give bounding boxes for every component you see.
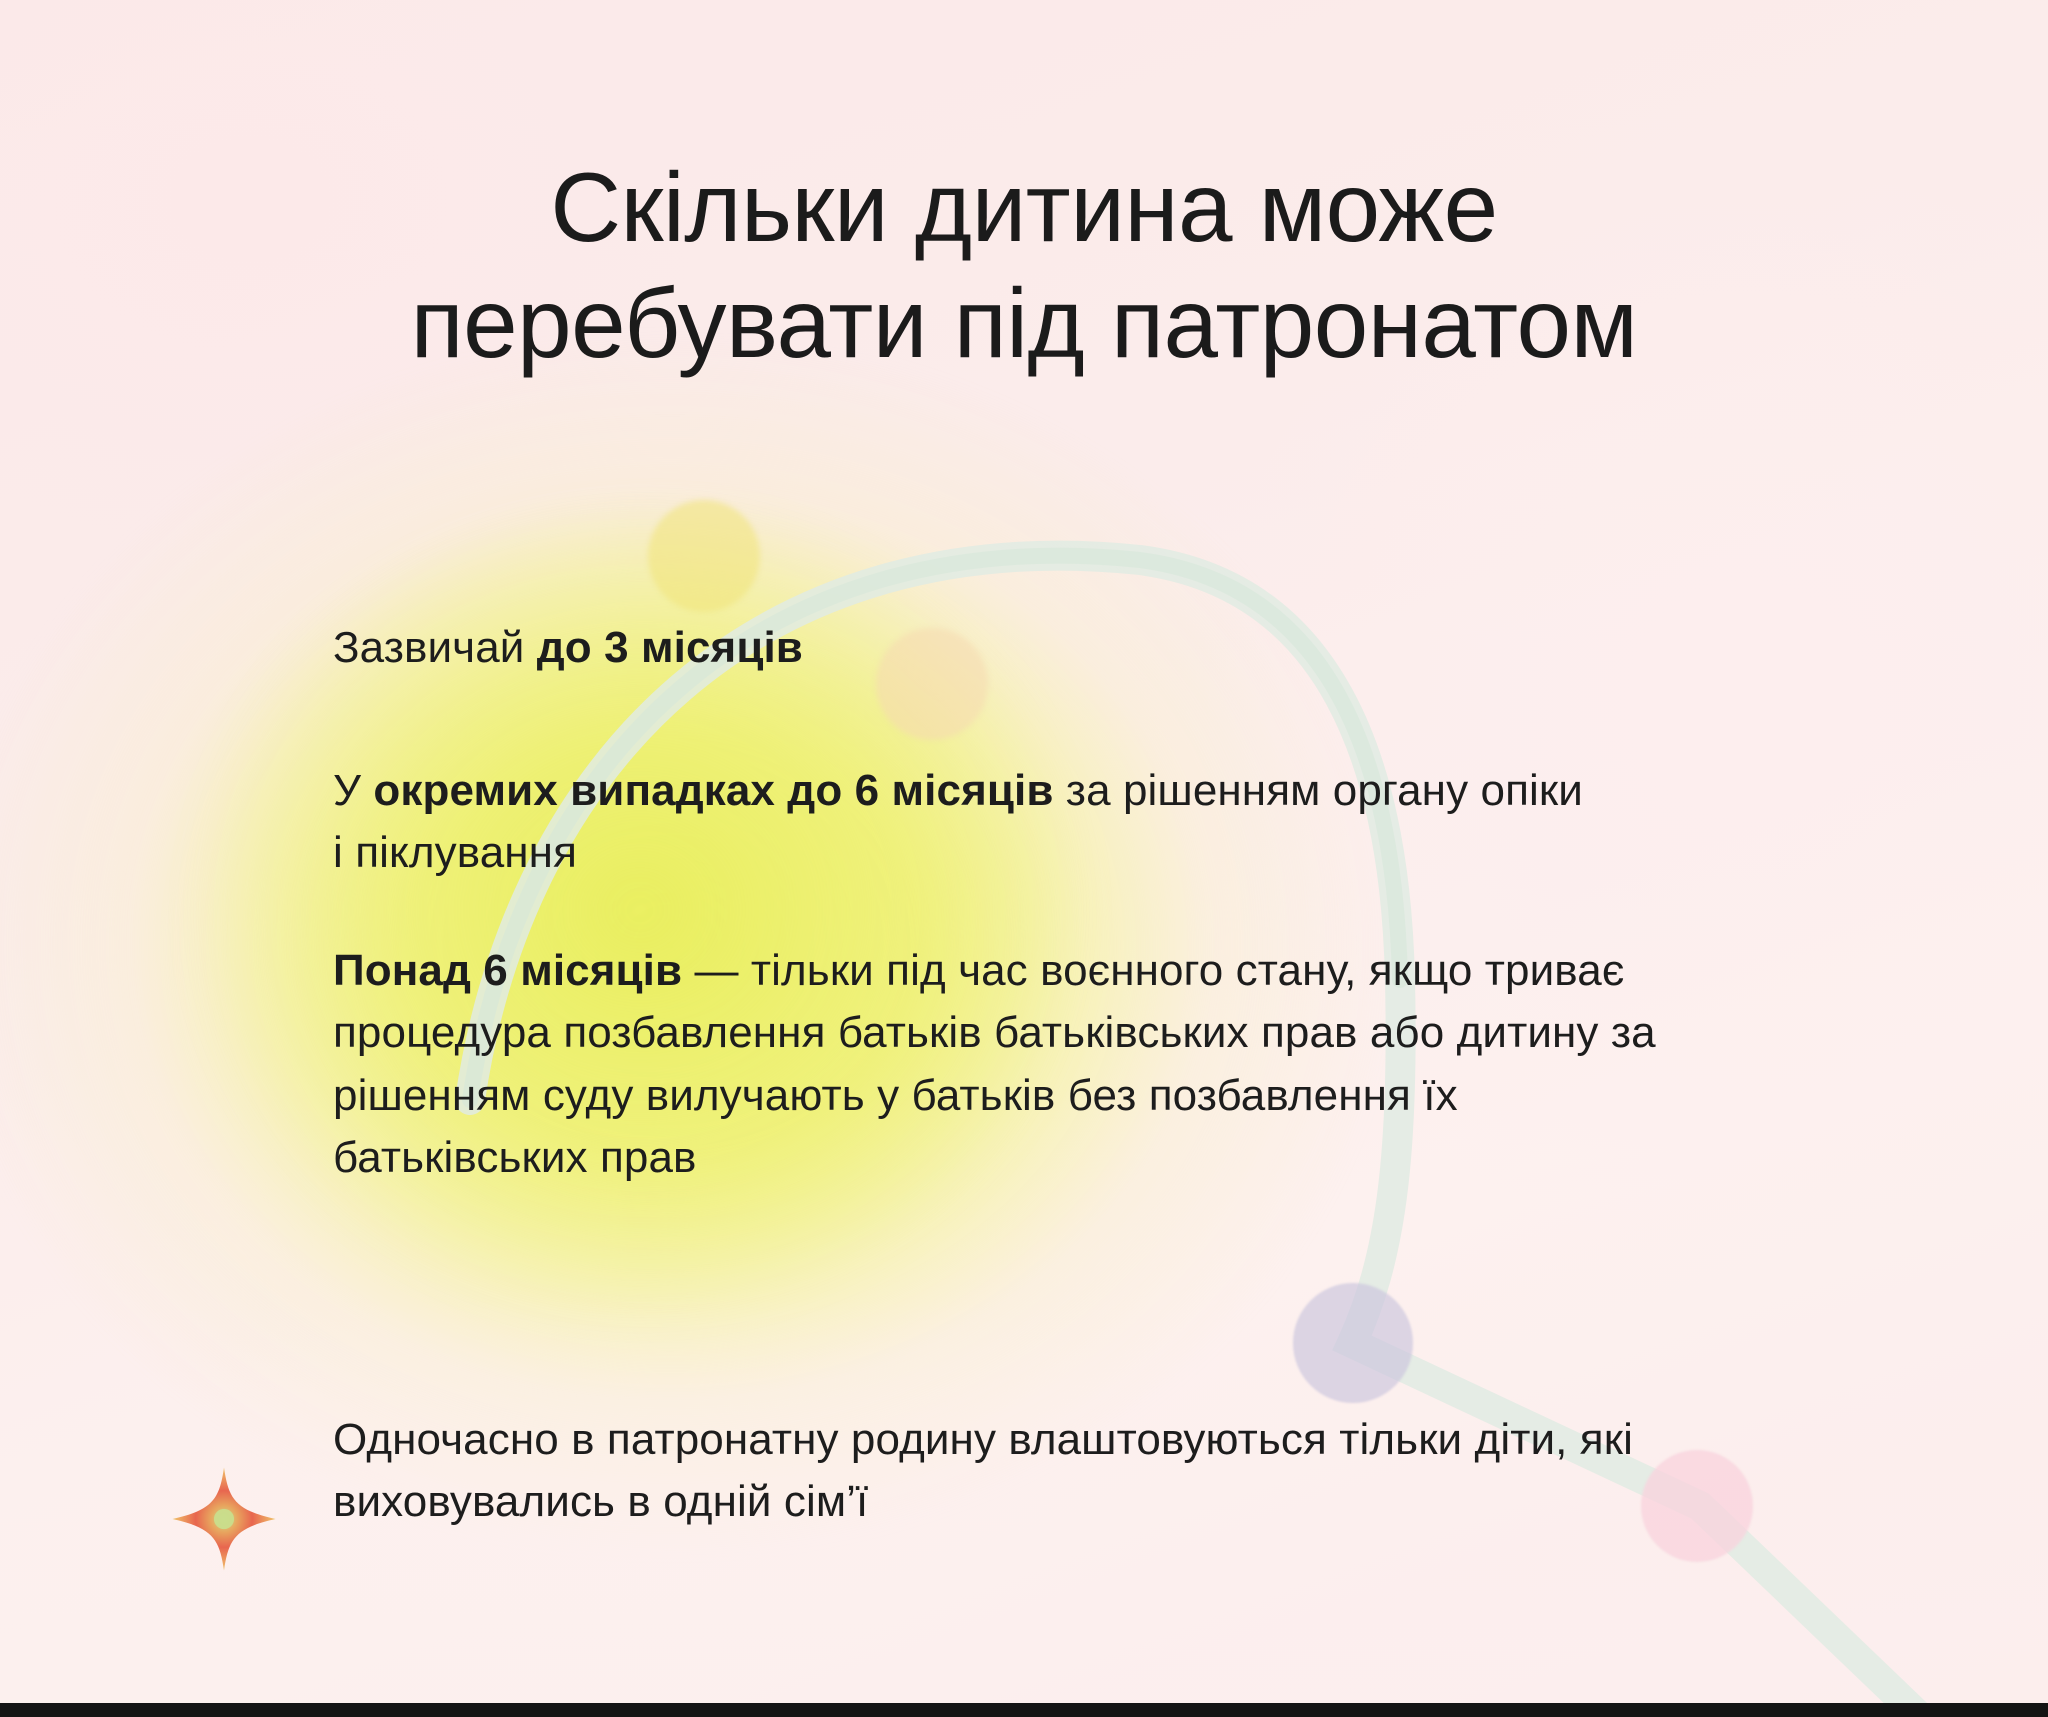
duration-usual-lead: Зазвичай <box>333 623 537 672</box>
siblings-note-text: Одночасно в патронатну родину влаштовуют… <box>333 1415 1633 1526</box>
page-title-line-1: Скільки дитина може <box>120 150 1928 266</box>
duration-usual-paragraph: Зазвичай до 3 місяців <box>333 617 1663 679</box>
duration-special-lead: У <box>333 766 373 815</box>
page-title-line-2: перебувати під патронатом <box>120 266 1928 382</box>
duration-usual-highlight: до 3 місяців <box>537 623 803 672</box>
duration-extended-paragraph: Понад 6 місяців — тільки під час воєнног… <box>333 940 1683 1190</box>
duration-extended-highlight: Понад 6 місяців <box>333 946 682 995</box>
duration-special-paragraph: У окремих випадках до 6 місяців за рішен… <box>333 760 1603 885</box>
duration-special-highlight: окремих випадках до 6 місяців <box>373 766 1053 815</box>
slide-content: Скільки дитина може перебувати під патро… <box>0 0 2048 1717</box>
siblings-note-paragraph: Одночасно в патронатну родину влаштовуют… <box>333 1409 1633 1534</box>
page-title: Скільки дитина може перебувати під патро… <box>0 150 2048 381</box>
